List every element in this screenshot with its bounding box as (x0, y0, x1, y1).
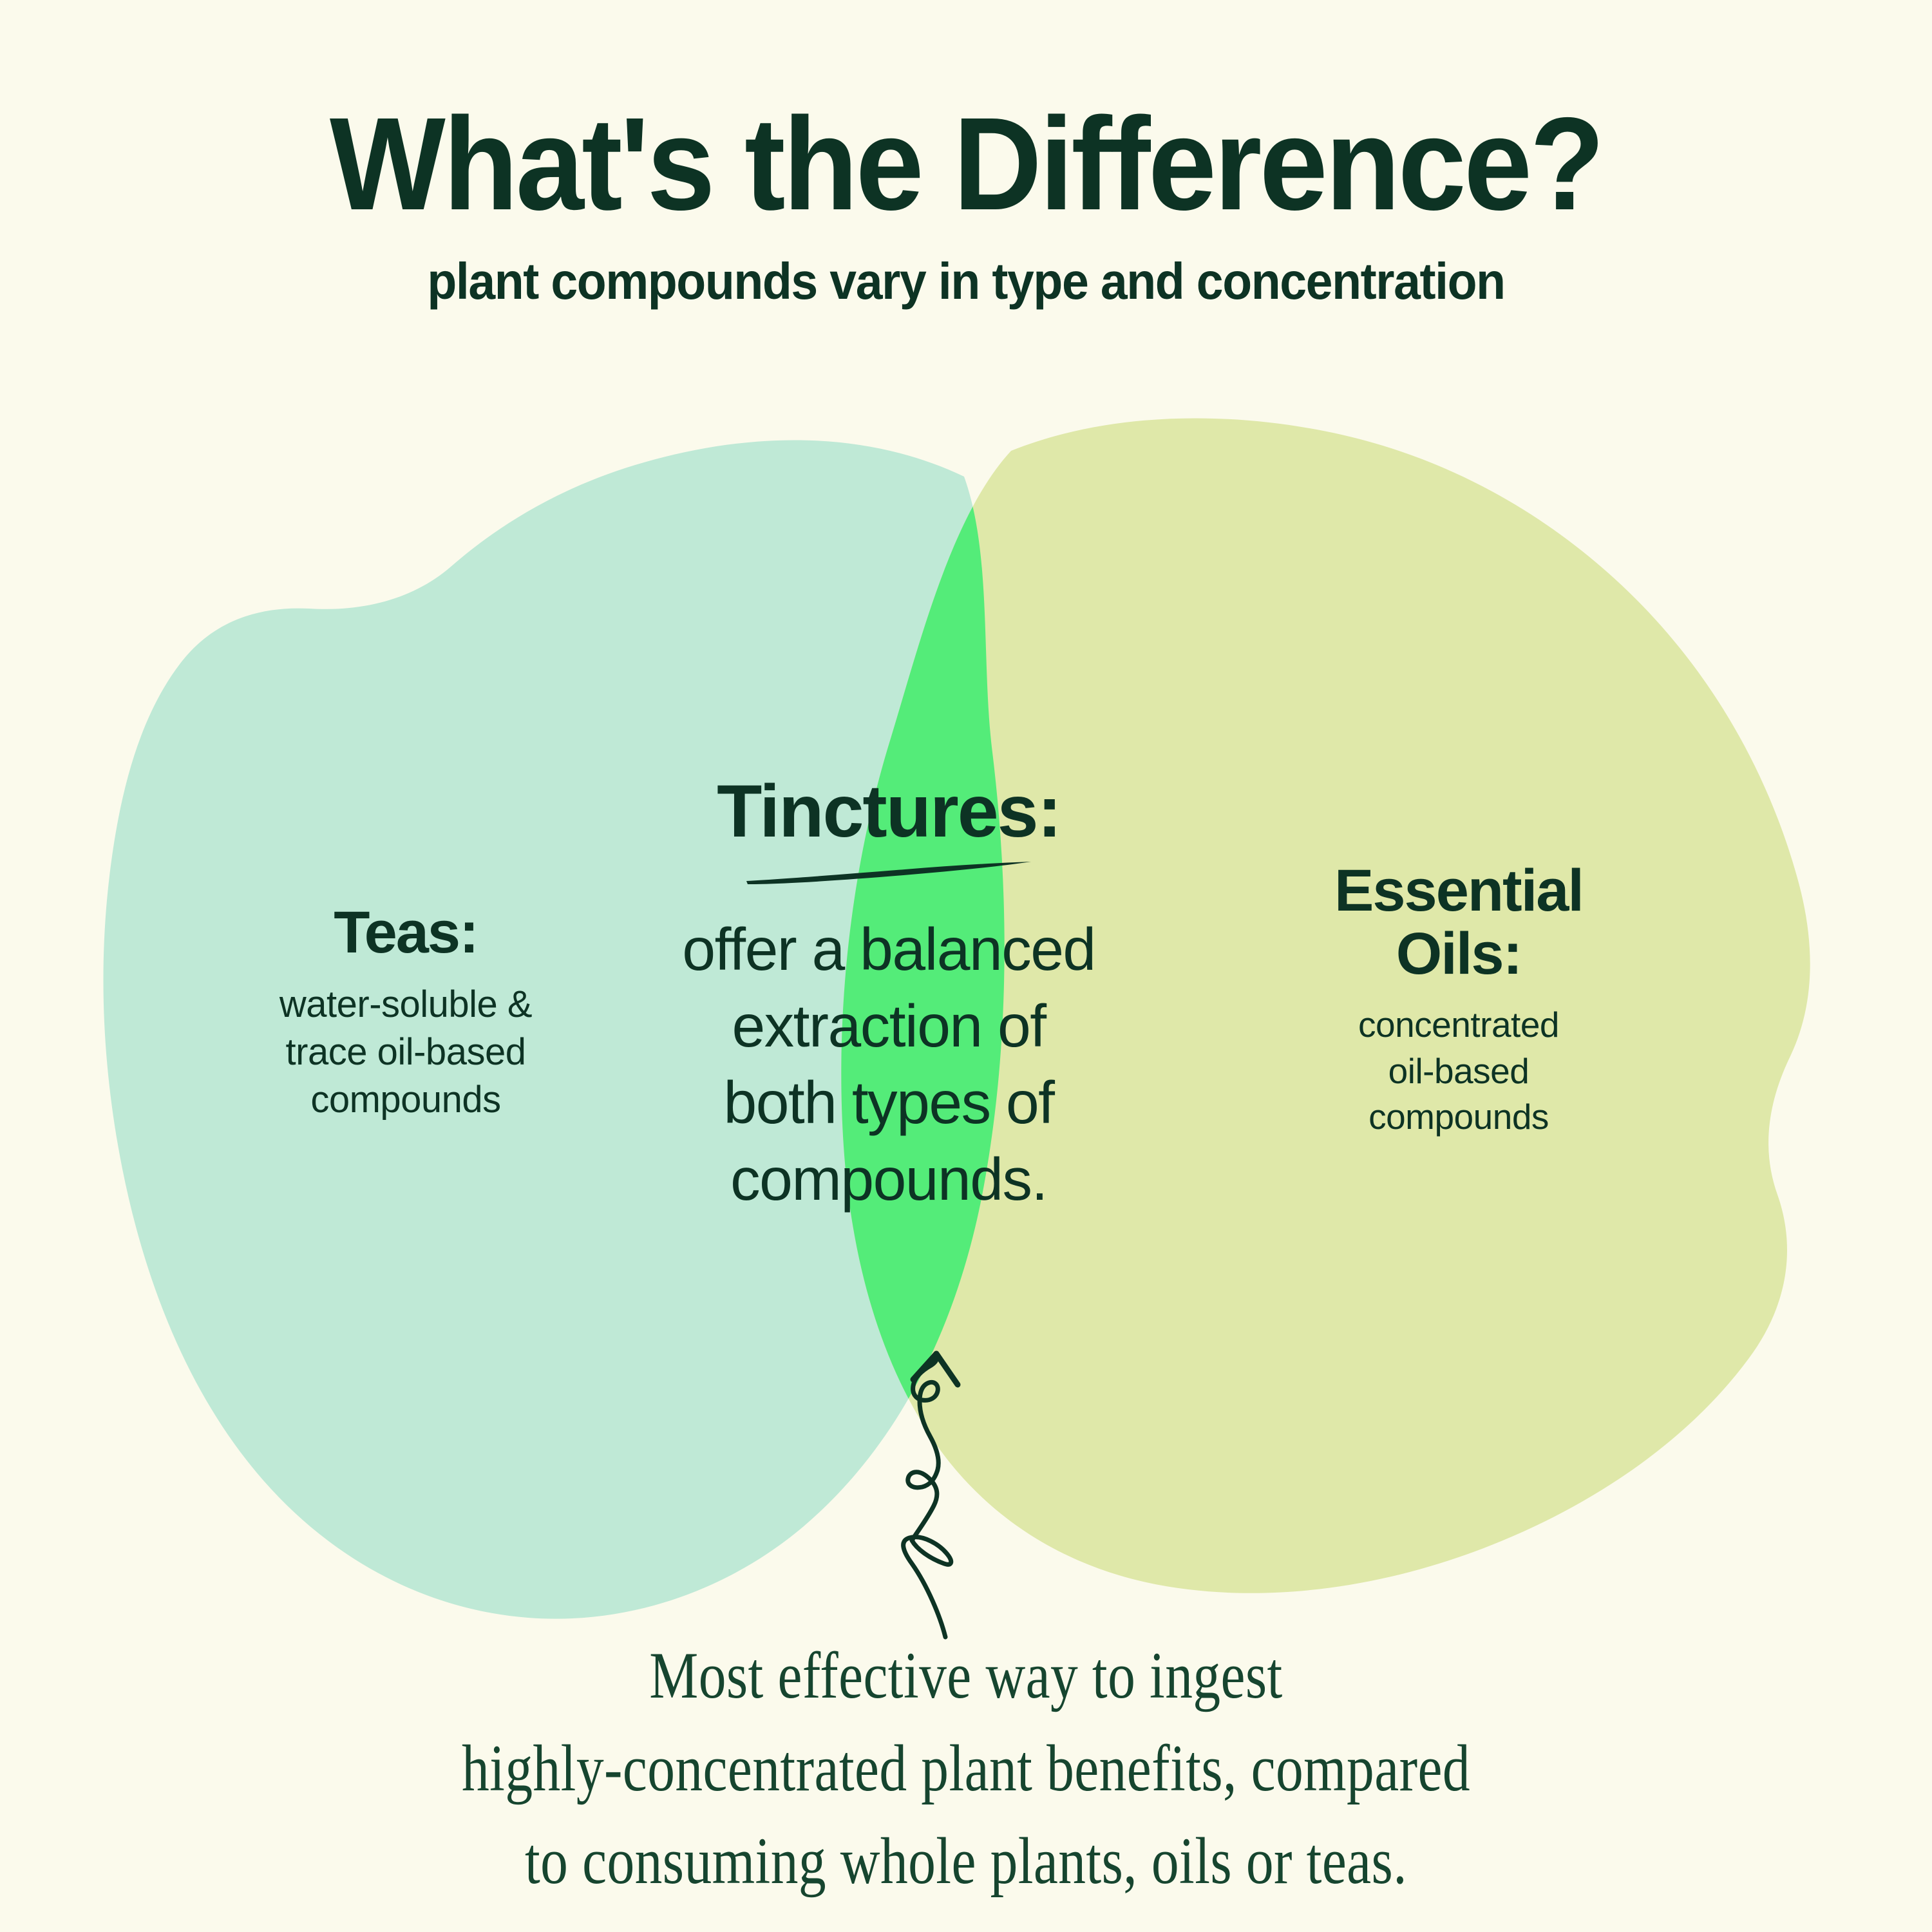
teas-description-line-1: water-soluble & (279, 983, 532, 1025)
tinctures-heading: Tinctures: (599, 773, 1179, 851)
tinctures-description: offer a balanced extraction of both type… (599, 911, 1179, 1218)
underline-swoosh-icon (744, 860, 1034, 885)
essential-oils-heading-line-2: Oils: (1396, 921, 1521, 987)
tinctures-description-line-1: offer a balanced (682, 916, 1095, 983)
essential-oils-description-line-2: oil-based (1388, 1051, 1529, 1091)
page-title: What's the Difference? (68, 97, 1864, 231)
tinctures-description-line-4: compounds. (730, 1146, 1047, 1213)
essential-oils-description-line-1: concentrated (1358, 1005, 1559, 1045)
infographic-canvas: What's the Difference? plant compounds v… (0, 0, 1932, 1932)
venn-label-tinctures: Tinctures: offer a balanced extraction o… (599, 773, 1179, 1218)
caption-line-1: Most effective way to ingest (164, 1629, 1768, 1722)
caption-line-3: to consuming whole plants, oils or teas. (164, 1815, 1768, 1908)
caption-line-2: highly-concentrated plant benefits, comp… (164, 1722, 1768, 1815)
teas-description: water-soluble & trace oil-based compound… (161, 981, 650, 1124)
footer-caption: Most effective way to ingest highly-conc… (164, 1629, 1768, 1908)
teas-heading: Teas: (161, 902, 650, 964)
squiggly-up-arrow-icon (863, 1346, 1082, 1642)
venn-label-essential-oils: Essential Oils: concentrated oil-based c… (1278, 860, 1639, 1141)
page-subtitle: plant compounds vary in type and concent… (58, 253, 1874, 310)
essential-oils-description-line-3: compounds (1368, 1097, 1549, 1137)
teas-description-line-2: trace oil-based (286, 1031, 526, 1073)
essential-oils-heading-line-1: Essential (1334, 858, 1583, 923)
teas-description-line-3: compounds (310, 1079, 500, 1121)
venn-label-teas: Teas: water-soluble & trace oil-based co… (161, 902, 650, 1124)
tinctures-description-line-2: extraction of (732, 992, 1045, 1059)
essential-oils-heading: Essential Oils: (1278, 860, 1639, 985)
tinctures-description-line-3: both types of (723, 1069, 1054, 1136)
header: What's the Difference? plant compounds v… (0, 97, 1932, 310)
essential-oils-description: concentrated oil-based compounds (1278, 1002, 1639, 1141)
